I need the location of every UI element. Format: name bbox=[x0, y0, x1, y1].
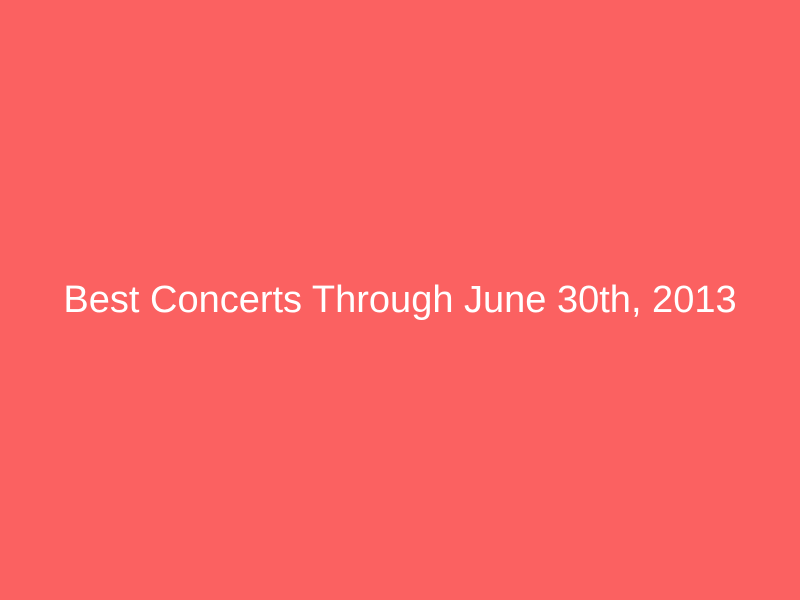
placeholder-title-text: Best Concerts Through June 30th, 2013 bbox=[63, 278, 736, 324]
placeholder-image-canvas: Best Concerts Through June 30th, 2013 bbox=[0, 0, 800, 600]
